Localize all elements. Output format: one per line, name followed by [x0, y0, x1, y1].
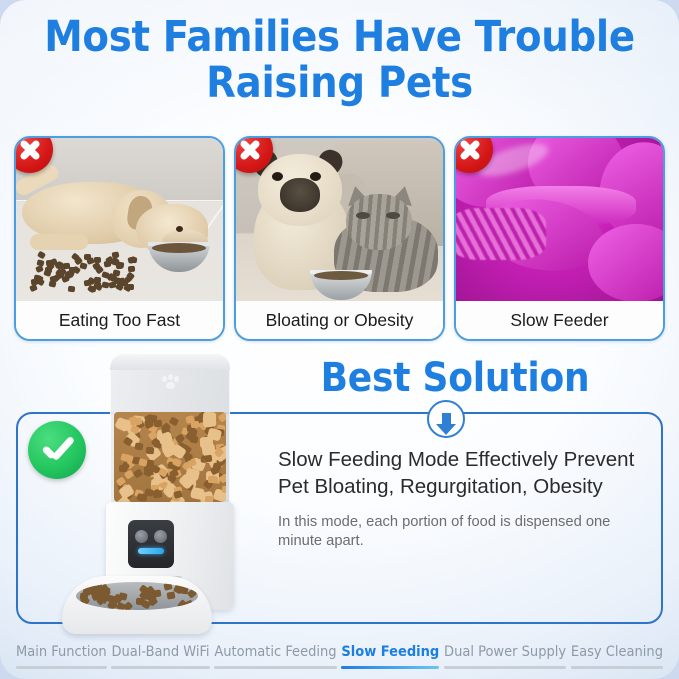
- tab-easy-cleaning[interactable]: Easy Cleaning: [571, 644, 663, 669]
- brand-name: [169, 389, 170, 394]
- kibble-piece: [136, 597, 144, 604]
- tab-underline: [214, 666, 336, 669]
- tab-underline: [571, 666, 663, 669]
- kibble-piece: [144, 488, 154, 497]
- chewed-edge: [456, 208, 546, 260]
- kibble-piece: [101, 281, 109, 288]
- kibble-piece: [221, 485, 226, 493]
- tab-label: Slow Feeding: [341, 644, 439, 660]
- kibble-piece: [37, 259, 45, 266]
- problem-card: Slow Feeder: [454, 136, 665, 341]
- solution-main-text: Slow Feeding Mode Effectively Prevent Pe…: [278, 446, 648, 501]
- tab-label: Dual-Band WiFi: [111, 644, 209, 660]
- feeder-hopper: [110, 354, 230, 506]
- dog-eye: [176, 226, 183, 232]
- check-mark-icon: [28, 421, 86, 479]
- solution-heading: Best Solution: [253, 355, 657, 401]
- food-bowl: [148, 242, 210, 272]
- kibble-piece: [153, 419, 162, 427]
- kibble-piece: [166, 592, 175, 600]
- card-label: Eating Too Fast: [16, 301, 223, 339]
- tab-label: Main Function: [16, 644, 107, 660]
- dog-leg: [30, 234, 88, 250]
- cat-head: [346, 194, 412, 250]
- control-button-left[interactable]: [135, 530, 148, 543]
- cat-eye-right: [386, 212, 400, 219]
- hopper-lid: [110, 354, 230, 370]
- tab-slow-feeding[interactable]: Slow Feeding: [341, 644, 439, 669]
- problem-card: Eating Too Fast: [14, 136, 225, 341]
- paw-print-icon: [162, 376, 179, 388]
- kibble-piece: [135, 443, 144, 451]
- kibble-piece: [49, 281, 57, 288]
- kibble-piece: [218, 413, 226, 423]
- kibble-piece: [68, 285, 76, 292]
- tab-underline: [341, 666, 439, 669]
- kibble-piece: [163, 582, 172, 591]
- spilled-kibble: [30, 250, 138, 290]
- arrow-shape: [442, 413, 451, 426]
- bowl-kibble: [76, 582, 198, 610]
- headline-line-1: Most Families Have Trouble: [44, 12, 635, 62]
- kibble-piece: [187, 588, 198, 598]
- problem-card: Bloating or Obesity: [234, 136, 445, 341]
- kibble-piece: [207, 476, 215, 483]
- card-label: Bloating or Obesity: [236, 301, 443, 339]
- pug-eye-left: [272, 172, 283, 181]
- page-title: Most Families Have Trouble Raising Pets: [0, 14, 679, 106]
- card-label: Slow Feeder: [456, 301, 663, 339]
- pug-eye-right: [310, 172, 321, 181]
- solution-text-block: Slow Feeding Mode Effectively Prevent Pe…: [278, 446, 648, 552]
- pug-muzzle: [280, 178, 320, 212]
- tab-label: Easy Cleaning: [571, 644, 663, 660]
- problem-card-list: Eating Too Fast Bl: [14, 136, 665, 341]
- kibble-piece: [94, 277, 101, 283]
- status-led: [138, 548, 164, 554]
- kibble-in-hopper: [114, 412, 226, 502]
- arrow-down-icon: [427, 400, 465, 438]
- pet-feeder-device: [62, 352, 284, 637]
- food-bowl: [310, 270, 372, 300]
- kibble-piece: [201, 443, 215, 456]
- tab-underline: [111, 666, 209, 669]
- brand-logo: [154, 372, 186, 398]
- kibble-piece: [80, 592, 89, 600]
- kibble-piece: [133, 468, 143, 478]
- kibble-piece: [46, 260, 53, 266]
- kibble-piece: [119, 464, 127, 471]
- kibble-piece: [37, 251, 46, 260]
- tab-underline: [444, 666, 566, 669]
- control-panel: [128, 520, 174, 568]
- cat-eye-left: [356, 212, 370, 219]
- tab-label: Dual Power Supply: [444, 644, 566, 660]
- kibble-piece: [154, 491, 163, 499]
- solution-sub-text: In this mode, each portion of food is di…: [278, 513, 648, 553]
- kibble-piece: [94, 257, 101, 263]
- feature-tab-bar: Main FunctionDual-Band WiFiAutomatic Fee…: [0, 644, 679, 669]
- tab-automatic-feeding[interactable]: Automatic Feeding: [214, 644, 336, 669]
- kibble-piece: [204, 455, 213, 463]
- control-button-right[interactable]: [154, 530, 167, 543]
- tab-underline: [16, 666, 107, 669]
- tab-main-function[interactable]: Main Function: [16, 644, 107, 669]
- kibble-piece: [169, 416, 179, 426]
- headline-line-2: Raising Pets: [0, 60, 679, 106]
- infographic-root: Most Families Have Trouble Raising Pets …: [0, 0, 679, 679]
- kibble-piece: [101, 271, 109, 279]
- feeder-bowl: [62, 576, 212, 634]
- kibble-piece: [29, 284, 38, 292]
- kibble-piece: [31, 278, 39, 285]
- kibble-piece: [203, 412, 217, 424]
- tab-dual-band-wifi[interactable]: Dual-Band WiFi: [111, 644, 209, 669]
- kibble-piece: [84, 254, 91, 260]
- kibble-piece: [69, 267, 76, 273]
- tab-label: Automatic Feeding: [214, 644, 336, 660]
- tab-dual-power-supply[interactable]: Dual Power Supply: [444, 644, 566, 669]
- kibble-piece: [146, 447, 155, 455]
- kibble-piece: [184, 600, 194, 610]
